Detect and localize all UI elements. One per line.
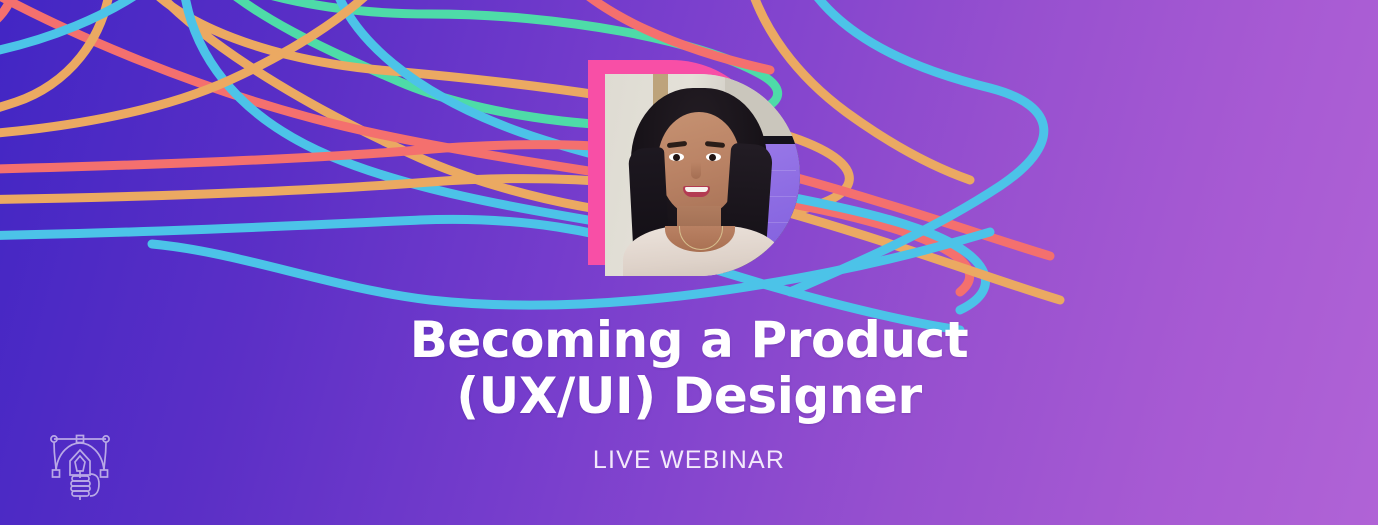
- photo-nose: [691, 162, 701, 179]
- webinar-banner: 7 DE Becoming a Product (UX/: [0, 0, 1378, 525]
- logo-pen-nib-inner: [75, 456, 85, 471]
- photo-pupil-left: [673, 154, 680, 161]
- portrait-photo: 7 DE: [605, 74, 800, 276]
- event-kicker: LIVE WEBINAR: [0, 446, 1378, 475]
- title-block: Becoming a Product (UX/UI) Designer LIVE…: [0, 312, 1378, 475]
- photo-pupil-right: [709, 154, 716, 161]
- event-title-line-2: (UX/UI) Designer: [0, 368, 1378, 424]
- logo-finger-3: [72, 491, 89, 496]
- contour-line-cyan-3: [0, 0, 168, 58]
- photo-teeth: [685, 187, 708, 192]
- contour-line-orange-4: [0, 0, 390, 136]
- event-title-line-1: Becoming a Product: [0, 312, 1378, 368]
- contour-line-cyan-6: [790, 0, 1044, 292]
- logo-anchor-bottom-right-square: [101, 470, 108, 477]
- logo-curve-right: [104, 442, 106, 470]
- contour-line-coral-1: [0, 0, 970, 292]
- speaker-portrait: 7 DE: [588, 60, 803, 278]
- contour-line-cyan-5: [152, 232, 990, 305]
- contour-line-orange-2: [0, 0, 112, 118]
- contour-line-coral-3: [0, 145, 1050, 256]
- logo-anchor-bottom-left-square: [53, 470, 60, 477]
- event-title: Becoming a Product (UX/UI) Designer: [0, 312, 1378, 424]
- contour-line-orange-3: [0, 179, 1060, 300]
- logo-thumb: [90, 474, 99, 496]
- pen-tool-logo: [44, 430, 116, 502]
- contour-line-coral-2: [0, 0, 18, 40]
- logo-curve-left: [54, 442, 56, 470]
